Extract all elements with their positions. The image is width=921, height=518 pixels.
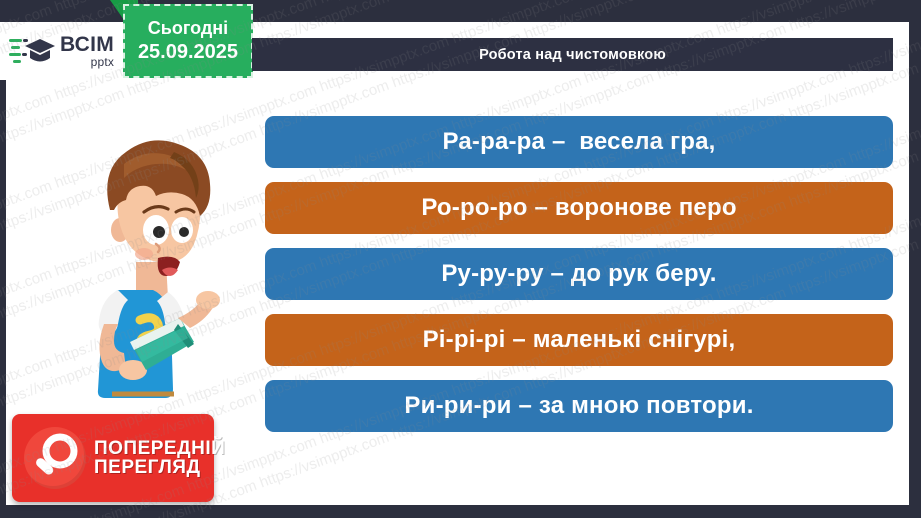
date-tag-value: 25.09.2025 [138, 41, 238, 64]
phrase-bar[interactable]: Ро-ро-ро – воронове перо [265, 182, 893, 234]
preview-badge[interactable]: ПОПЕРЕДНІЙ ПЕРЕГЛЯД [12, 414, 214, 502]
phrase-bar-list: Ра-ра-ра – весела гра, Ро-ро-ро – вороно… [265, 116, 893, 432]
phrase-bar[interactable]: Ра-ра-ра – весела гра, [265, 116, 893, 168]
phrase-bar[interactable]: Ри-ри-ри – за мною повтори. [265, 380, 893, 432]
logo-title: ВСІМ [60, 34, 114, 55]
phrase-bar[interactable]: Рі-рі-рі – маленькі снігурі, [265, 314, 893, 366]
magnifier-icon [24, 427, 86, 489]
slide-root: Ра-ра-ра – весела гра, Ро-ро-ро – вороно… [0, 0, 921, 518]
page-title: Робота над чистомовкою [479, 47, 666, 63]
preview-badge-labels: ПОПЕРЕДНІЙ ПЕРЕГЛЯД [94, 439, 225, 477]
date-tag-label: Сьогодні [148, 18, 228, 39]
preview-badge-line2: ПЕРЕГЛЯД [94, 458, 225, 477]
brand-logo[interactable]: ВСІМ pptx [0, 22, 126, 80]
graduation-cap-icon [9, 33, 55, 69]
cartoon-boy-illustration [58, 112, 238, 412]
preview-badge-line1: ПОПЕРЕДНІЙ [94, 439, 225, 458]
date-tag: Сьогодні 25.09.2025 [123, 4, 253, 78]
date-tag-container: Сьогодні 25.09.2025 [110, 0, 255, 82]
phrase-bar[interactable]: Ру-ру-ру – до рук беру. [265, 248, 893, 300]
slide-title-bar: Робота над чистомовкою [252, 38, 893, 71]
